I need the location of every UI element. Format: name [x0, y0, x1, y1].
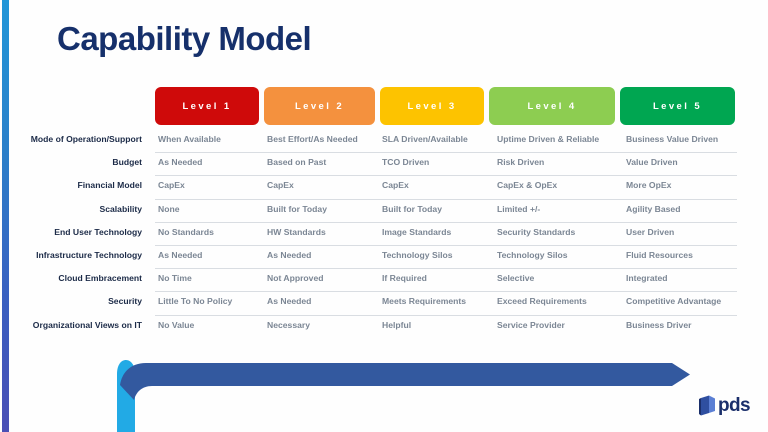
- cell-r3-c3: CapEx: [382, 180, 409, 190]
- cell-r6-c5: Fluid Resources: [626, 250, 693, 260]
- cell-r2-c4: Risk Driven: [497, 157, 544, 167]
- cell-r6-c1: As Needed: [158, 250, 202, 260]
- cell-r3-c4: CapEx & OpEx: [497, 180, 557, 190]
- cell-r7-c2: Not Approved: [267, 273, 324, 283]
- cell-r8-c1: Little To No Policy: [158, 296, 232, 306]
- journey-banner-shape: [0, 352, 768, 432]
- level-header-3[interactable]: Level 3: [380, 87, 484, 125]
- table-row: End User TechnologyNo StandardsHW Standa…: [0, 223, 768, 246]
- capability-matrix-table: Mode of Operation/SupportWhen AvailableB…: [0, 130, 768, 339]
- cell-r2-c1: As Needed: [158, 157, 202, 167]
- cell-r5-c4: Security Standards: [497, 227, 575, 237]
- cell-r3-c2: CapEx: [267, 180, 294, 190]
- cell-r3-c1: CapEx: [158, 180, 185, 190]
- table-row: Mode of Operation/SupportWhen AvailableB…: [0, 130, 768, 153]
- cell-r5-c2: HW Standards: [267, 227, 326, 237]
- cell-r9-c2: Necessary: [267, 320, 310, 330]
- cell-r5-c3: Image Standards: [382, 227, 451, 237]
- table-row: SecurityLittle To No PolicyAs NeededMeet…: [0, 292, 768, 315]
- cell-r7-c5: Integrated: [626, 273, 668, 283]
- cell-r3-c5: More OpEx: [626, 180, 671, 190]
- cell-r8-c4: Exceed Requirements: [497, 296, 587, 306]
- level-header-1[interactable]: Level 1: [155, 87, 259, 125]
- table-row: Financial ModelCapExCapExCapExCapEx & Op…: [0, 176, 768, 199]
- cell-r4-c1: None: [158, 204, 179, 214]
- cell-r8-c3: Meets Requirements: [382, 296, 466, 306]
- cell-r7-c4: Selective: [497, 273, 534, 283]
- table-row: Organizational Views on ITNo ValueNecess…: [0, 316, 768, 339]
- journey-banner: JOURNEY TO STRATEGIC: [0, 352, 768, 432]
- cell-r1-c3: SLA Driven/Available: [382, 134, 468, 144]
- table-row: ScalabilityNoneBuilt for TodayBuilt for …: [0, 200, 768, 223]
- cell-r8-c5: Competitive Advantage: [626, 296, 721, 306]
- row-label: Organizational Views on IT: [0, 320, 142, 330]
- level-header-2[interactable]: Level 2: [264, 87, 375, 125]
- cell-r8-c2: As Needed: [267, 296, 311, 306]
- pds-wordmark: pds: [718, 393, 750, 419]
- page-title: Capability Model: [57, 20, 311, 58]
- slide-canvas: Capability Model Level 1Level 2Level 3Le…: [0, 0, 768, 432]
- row-label: Budget: [0, 157, 142, 167]
- cell-r1-c1: When Available: [158, 134, 221, 144]
- cell-r5-c1: No Standards: [158, 227, 214, 237]
- row-label: Financial Model: [0, 180, 142, 190]
- level-header-4[interactable]: Level 4: [489, 87, 615, 125]
- cell-r4-c4: Limited +/-: [497, 204, 540, 214]
- level-header-5[interactable]: Level 5: [620, 87, 735, 125]
- table-row: Infrastructure TechnologyAs NeededAs Nee…: [0, 246, 768, 269]
- row-label: Cloud Embracement: [0, 273, 142, 283]
- cell-r9-c1: No Value: [158, 320, 194, 330]
- cell-r9-c5: Business Driver: [626, 320, 691, 330]
- cell-r2-c2: Based on Past: [267, 157, 326, 167]
- cell-r9-c4: Service Provider: [497, 320, 565, 330]
- cell-r7-c3: If Required: [382, 273, 427, 283]
- table-row: Cloud EmbracementNo TimeNot ApprovedIf R…: [0, 269, 768, 292]
- table-row: BudgetAs NeededBased on PastTCO DrivenRi…: [0, 153, 768, 176]
- cell-r6-c2: As Needed: [267, 250, 311, 260]
- cell-r5-c5: User Driven: [626, 227, 674, 237]
- row-label: Infrastructure Technology: [0, 250, 142, 260]
- cell-r4-c5: Agility Based: [626, 204, 680, 214]
- cell-r2-c3: TCO Driven: [382, 157, 429, 167]
- cell-r6-c3: Technology Silos: [382, 250, 453, 260]
- row-label: End User Technology: [0, 227, 142, 237]
- row-label: Scalability: [0, 204, 142, 214]
- cell-r1-c4: Uptime Driven & Reliable: [497, 134, 599, 144]
- cell-r2-c5: Value Driven: [626, 157, 678, 167]
- cell-r7-c1: No Time: [158, 273, 192, 283]
- cell-r4-c2: Built for Today: [267, 204, 327, 214]
- cell-r9-c3: Helpful: [382, 320, 411, 330]
- cell-r4-c3: Built for Today: [382, 204, 442, 214]
- cell-r1-c2: Best Effort/As Needed: [267, 134, 358, 144]
- row-label: Security: [0, 296, 142, 306]
- cell-r6-c4: Technology Silos: [497, 250, 568, 260]
- row-label: Mode of Operation/Support: [0, 134, 142, 144]
- cell-r1-c5: Business Value Driven: [626, 134, 718, 144]
